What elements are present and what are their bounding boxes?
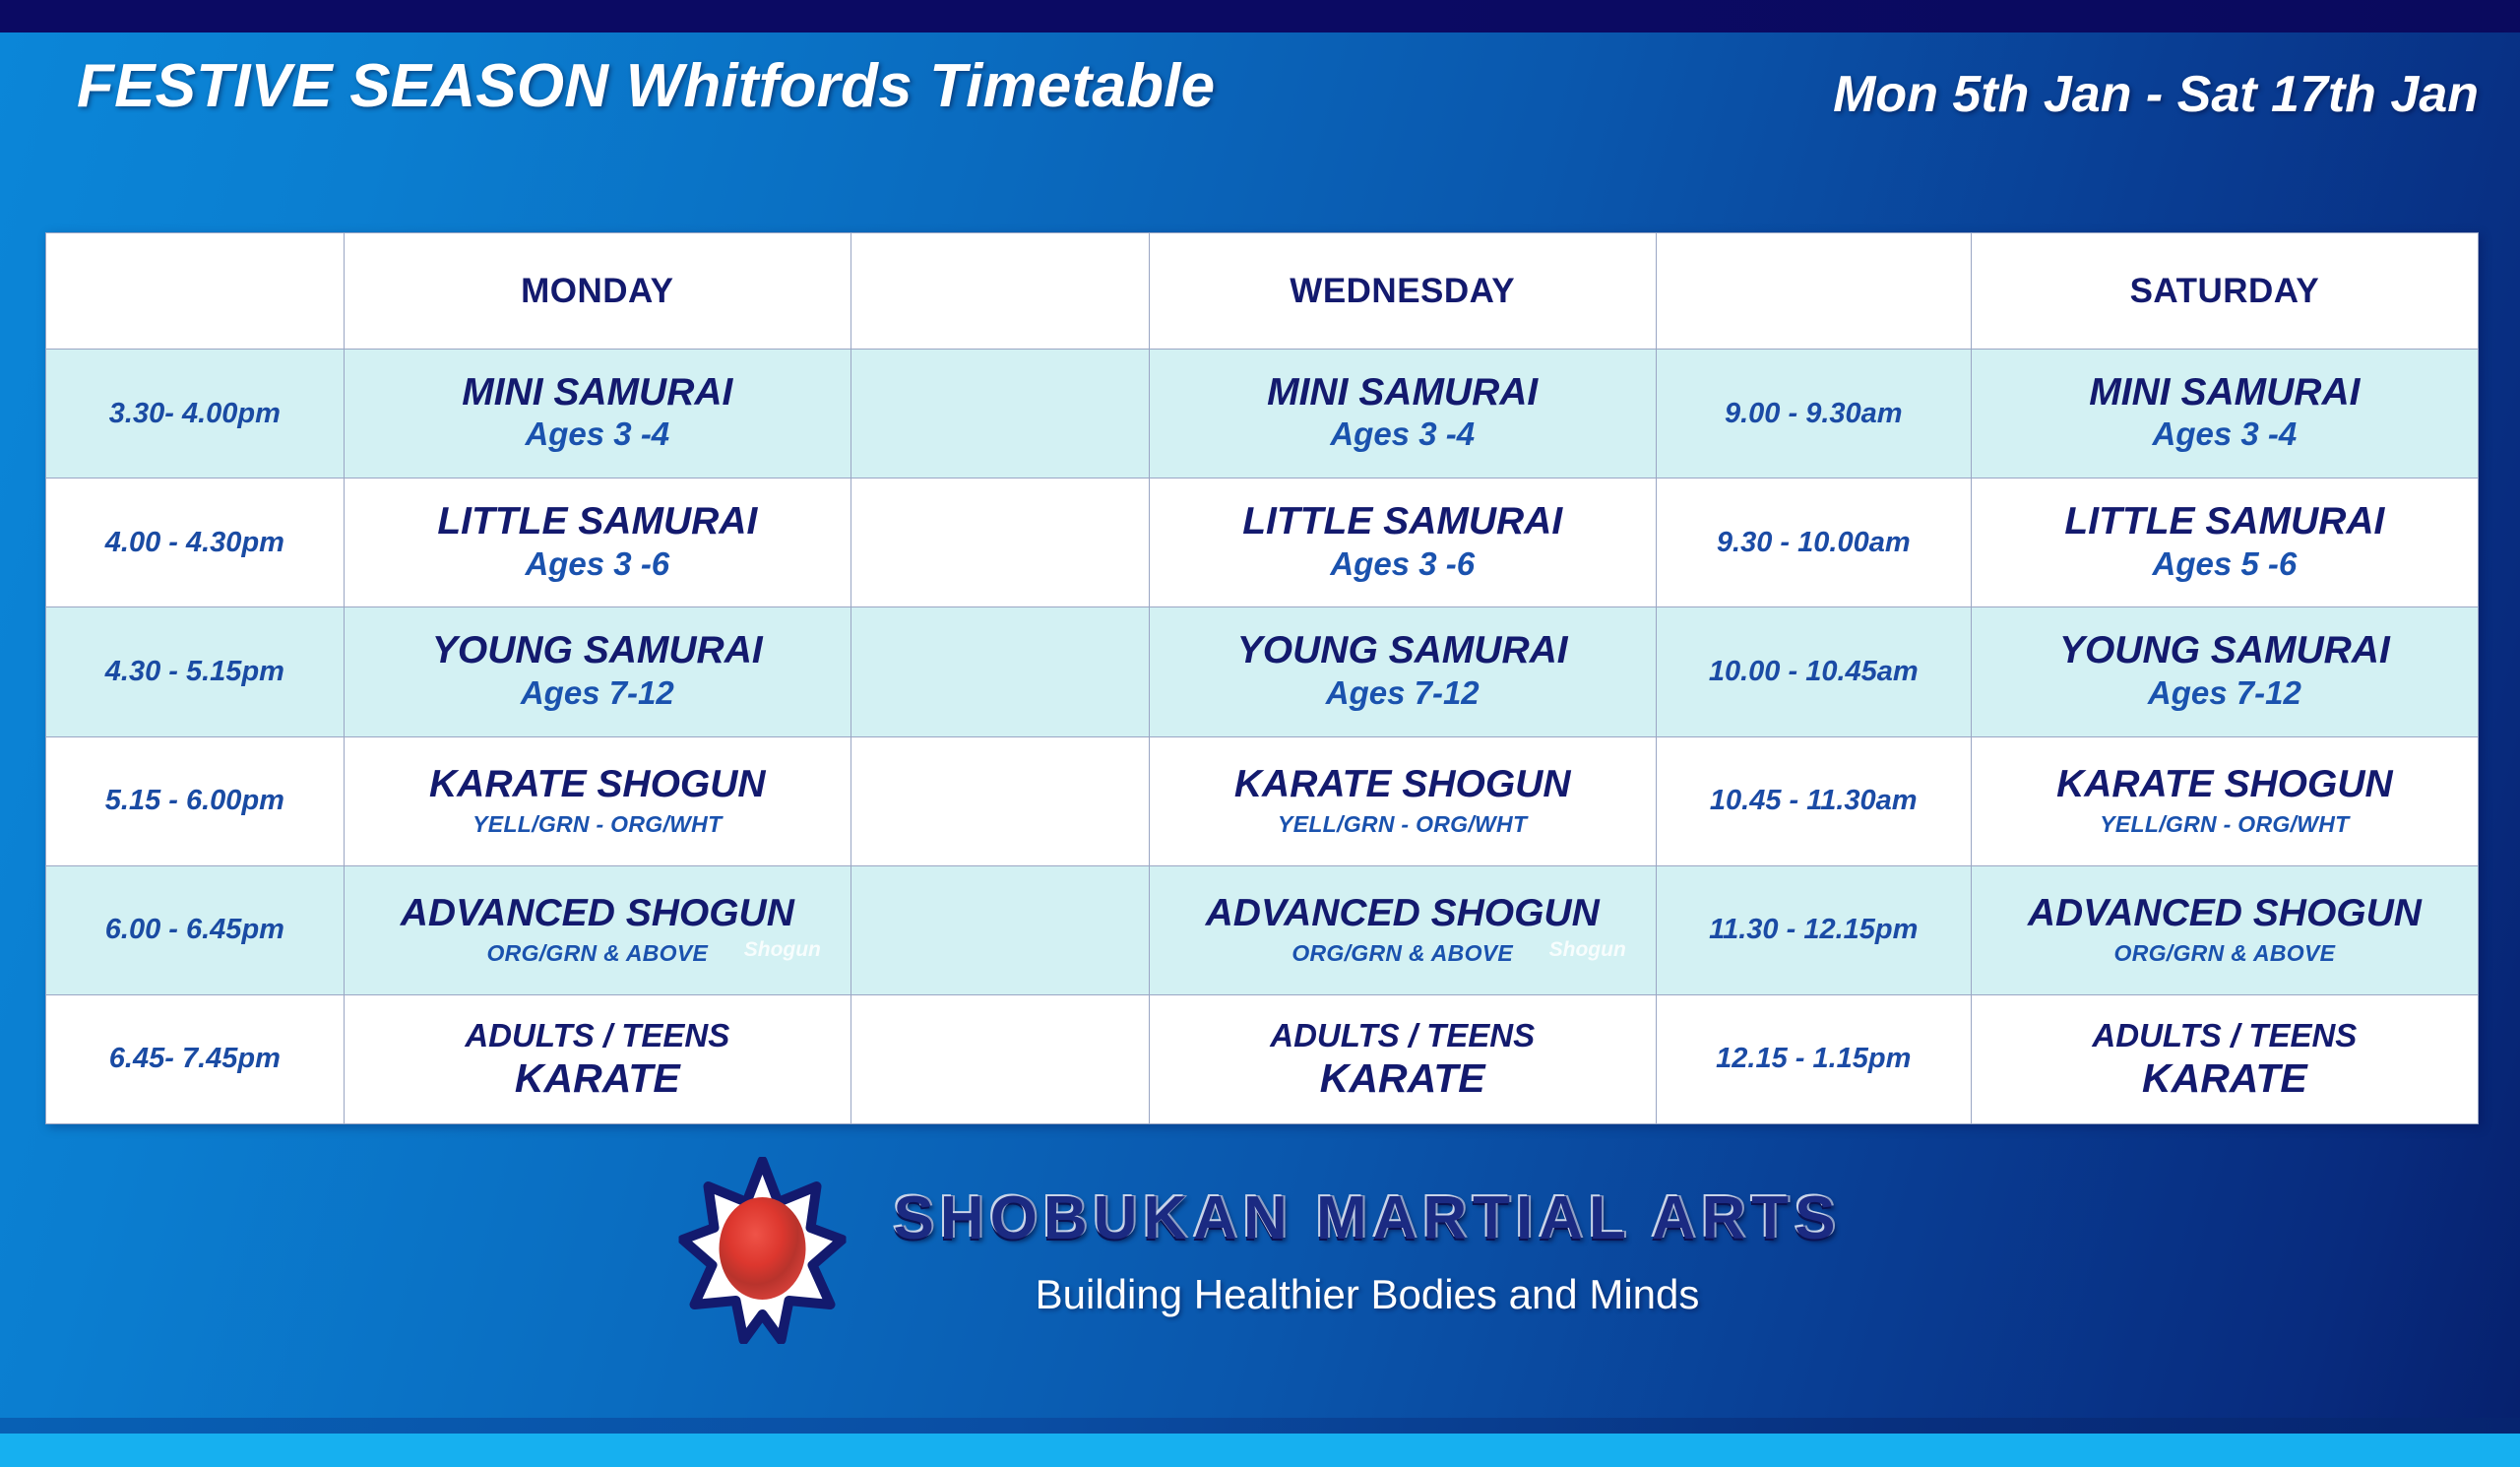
shobukan-star-logo-icon xyxy=(679,1157,847,1344)
day-label-wednesday: WEDNESDAY xyxy=(1290,272,1515,310)
poster-root: FESTIVE SEASON Whitfords Timetable Mon 5… xyxy=(0,0,2520,1467)
empty-cell-tuesday xyxy=(850,994,1149,1123)
empty-cell-tuesday xyxy=(850,350,1149,478)
bottom-edge-cyan-strip xyxy=(0,1434,2520,1467)
class-cell-monday: MINI SAMURAI Ages 3 -4 xyxy=(344,350,850,478)
class-cell-saturday: ADVANCED SHOGUN ORG/GRN & ABOVE xyxy=(1971,865,2478,994)
time-cell-weekday: 3.30- 4.00pm xyxy=(46,350,345,478)
brand-tagline: Building Healthier Bodies and Minds xyxy=(1036,1271,1700,1318)
timetable: MONDAY WEDNESDAY SATURDAY xyxy=(45,232,2479,1124)
top-edge-strip xyxy=(0,0,2520,32)
class-cell-saturday: KARATE SHOGUN YELL/GRN - ORG/WHT xyxy=(1971,736,2478,865)
header-cell-blank-1 xyxy=(46,233,345,350)
table-row: 3.30- 4.00pm MINI SAMURAI Ages 3 -4 MINI… xyxy=(46,350,2479,478)
bottom-edge-dark-strip xyxy=(0,1418,2520,1434)
header-cell-blank-3 xyxy=(1656,233,1971,350)
class-cell-saturday: YOUNG SAMURAI Ages 7-12 xyxy=(1971,607,2478,736)
table-row: 5.15 - 6.00pm KARATE SHOGUN YELL/GRN - O… xyxy=(46,736,2479,865)
poster-footer: SHOBUKAN MARTIAL ARTS Building Healthier… xyxy=(0,1157,2520,1388)
day-label-monday: MONDAY xyxy=(521,272,673,310)
time-cell-weekday: 6.45- 7.45pm xyxy=(46,994,345,1123)
empty-cell-tuesday xyxy=(850,607,1149,736)
class-cell-monday: YOUNG SAMURAI Ages 7-12 xyxy=(344,607,850,736)
title-festive-season: FESTIVE SEASON xyxy=(77,52,608,120)
time-cell-saturday: 10.00 - 10.45am xyxy=(1656,607,1971,736)
table-header-row: MONDAY WEDNESDAY SATURDAY xyxy=(46,233,2479,350)
brand-text-block: SHOBUKAN MARTIAL ARTS Building Healthier… xyxy=(894,1183,1842,1318)
time-cell-saturday: 9.00 - 9.30am xyxy=(1656,350,1971,478)
class-cell-wednesday: KARATE SHOGUN YELL/GRN - ORG/WHT xyxy=(1149,736,1656,865)
class-cell-monday: LITTLE SAMURAI Ages 3 -6 xyxy=(344,478,850,607)
class-cell-wednesday: ADVANCED SHOGUN ORG/GRN & ABOVE Shogun xyxy=(1149,865,1656,994)
time-cell-weekday: 5.15 - 6.00pm xyxy=(46,736,345,865)
header-cell-blank-2 xyxy=(850,233,1149,350)
time-cell-weekday: 4.30 - 5.15pm xyxy=(46,607,345,736)
title-whitfords-timetable: Whitfords Timetable xyxy=(626,52,1216,120)
time-cell-saturday: 9.30 - 10.00am xyxy=(1656,478,1971,607)
class-cell-monday: ADULTS / TEENS KARATE xyxy=(344,994,850,1123)
time-cell-saturday: 10.45 - 11.30am xyxy=(1656,736,1971,865)
class-cell-saturday: MINI SAMURAI Ages 3 -4 xyxy=(1971,350,2478,478)
class-cell-monday: ADVANCED SHOGUN ORG/GRN & ABOVE Shogun xyxy=(344,865,850,994)
poster-header: FESTIVE SEASON Whitfords Timetable Mon 5… xyxy=(0,51,2520,158)
header-cell-wednesday: WEDNESDAY xyxy=(1149,233,1656,350)
class-cell-wednesday: YOUNG SAMURAI Ages 7-12 xyxy=(1149,607,1656,736)
timetable-container: MONDAY WEDNESDAY SATURDAY xyxy=(45,232,2479,1124)
time-cell-weekday: 4.00 - 4.30pm xyxy=(46,478,345,607)
class-cell-wednesday: MINI SAMURAI Ages 3 -4 xyxy=(1149,350,1656,478)
table-row: 4.00 - 4.30pm LITTLE SAMURAI Ages 3 -6 L… xyxy=(46,478,2479,607)
empty-cell-tuesday xyxy=(850,736,1149,865)
table-row: 6.45- 7.45pm ADULTS / TEENS KARATE ADULT… xyxy=(46,994,2479,1123)
brand-logo-group: SHOBUKAN MARTIAL ARTS Building Healthier… xyxy=(679,1157,1842,1344)
table-row: 4.30 - 5.15pm YOUNG SAMURAI Ages 7-12 YO… xyxy=(46,607,2479,736)
class-cell-wednesday: LITTLE SAMURAI Ages 3 -6 xyxy=(1149,478,1656,607)
class-cell-wednesday: ADULTS / TEENS KARATE xyxy=(1149,994,1656,1123)
date-range: Mon 5th Jan - Sat 17th Jan xyxy=(1833,65,2479,124)
class-cell-saturday: ADULTS / TEENS KARATE xyxy=(1971,994,2478,1123)
empty-cell-tuesday xyxy=(850,478,1149,607)
class-cell-monday: KARATE SHOGUN YELL/GRN - ORG/WHT xyxy=(344,736,850,865)
time-cell-weekday: 6.00 - 6.45pm xyxy=(46,865,345,994)
day-label-saturday: SATURDAY xyxy=(2130,272,2320,310)
header-cell-monday: MONDAY xyxy=(344,233,850,350)
header-cell-saturday: SATURDAY xyxy=(1971,233,2478,350)
time-cell-saturday: 11.30 - 12.15pm xyxy=(1656,865,1971,994)
table-row: 6.00 - 6.45pm ADVANCED SHOGUN ORG/GRN & … xyxy=(46,865,2479,994)
class-cell-saturday: LITTLE SAMURAI Ages 5 -6 xyxy=(1971,478,2478,607)
time-cell-saturday: 12.15 - 1.15pm xyxy=(1656,994,1971,1123)
page-title: FESTIVE SEASON Whitfords Timetable xyxy=(77,51,1215,121)
brand-name: SHOBUKAN MARTIAL ARTS xyxy=(894,1183,1842,1253)
empty-cell-tuesday xyxy=(850,865,1149,994)
